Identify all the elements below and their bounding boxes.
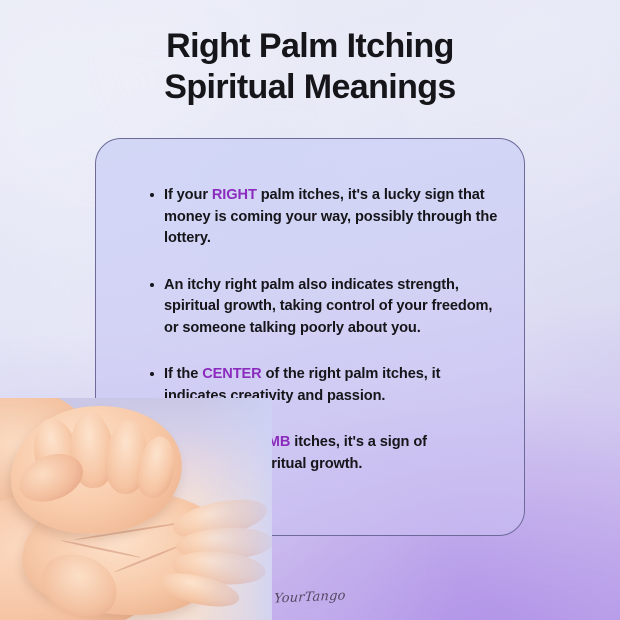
hands-photo bbox=[0, 398, 272, 620]
bullet-dot-icon bbox=[150, 283, 154, 287]
title-line-2: Spiritual Meanings bbox=[0, 67, 620, 108]
list-item: An itchy right palm also indicates stren… bbox=[164, 275, 498, 340]
bullet-dot-icon bbox=[150, 372, 154, 376]
list-item: If your RIGHT palm itches, it's a lucky … bbox=[164, 185, 498, 250]
title-line-1: Right Palm Itching bbox=[0, 26, 620, 67]
meaning-text-pre: If your bbox=[164, 187, 212, 203]
watermark-label: YourTango bbox=[274, 588, 346, 606]
brand-watermark: YourTango bbox=[0, 588, 620, 606]
page-title: Right Palm Itching Spiritual Meanings bbox=[0, 26, 620, 108]
meaning-text-pre: An itchy right palm also indicates stren… bbox=[164, 277, 492, 336]
meaning-keyword: RIGHT bbox=[212, 187, 257, 203]
meaning-text-pre: If the bbox=[164, 366, 202, 382]
meaning-keyword: CENTER bbox=[202, 366, 261, 382]
photo-edge-fade bbox=[0, 398, 272, 620]
bullet-dot-icon bbox=[150, 193, 154, 197]
infographic-canvas: Right Palm Itching Spiritual Meanings I bbox=[0, 0, 620, 620]
